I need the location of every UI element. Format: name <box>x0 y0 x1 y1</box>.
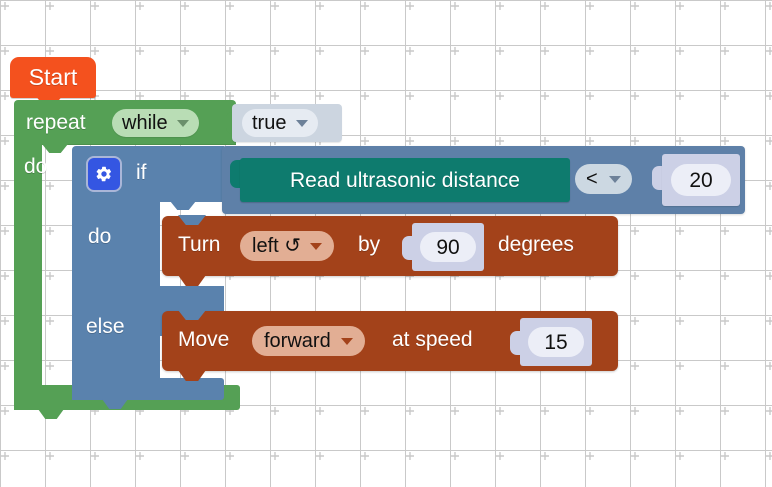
turn-verb-label: Turn <box>178 234 220 255</box>
chevron-down-icon <box>177 120 189 127</box>
blockly-workspace[interactable]: Start repeat while do true <box>0 0 772 487</box>
read-ultrasonic-distance-block[interactable]: Read ultrasonic distance <box>240 158 570 202</box>
if-block-footer <box>72 378 224 400</box>
chevron-down-icon <box>341 338 353 345</box>
comparison-right-number-block[interactable]: 20 <box>662 154 740 206</box>
comparison-right-number-input[interactable]: 20 <box>671 164 731 196</box>
turn-amount-input[interactable]: 90 <box>420 232 476 262</box>
move-amount-number-block[interactable]: 15 <box>520 318 592 366</box>
repeat-block-bottom-notch <box>38 409 64 419</box>
if-block-do-notch <box>170 201 196 210</box>
turn-direction-value: left ↺ <box>252 236 301 256</box>
turn-block[interactable]: Turn left ↺ by 90 degrees <box>162 216 618 276</box>
chevron-down-icon <box>310 243 322 250</box>
gear-icon[interactable] <box>86 156 122 192</box>
start-block-label: Start <box>29 66 78 89</box>
move-block[interactable]: Move forward at speed 15 <box>162 311 618 371</box>
move-amount-value: 15 <box>544 332 567 353</box>
turn-amount-number-block[interactable]: 90 <box>412 223 484 271</box>
comparison-right-number-value: 20 <box>689 170 712 191</box>
repeat-block-inner-notch <box>42 144 68 153</box>
move-direction-dropdown[interactable]: forward <box>252 326 365 356</box>
true-value-dropdown[interactable]: true <box>242 109 318 137</box>
move-block-top-notch <box>178 310 206 320</box>
if-do-label: do <box>88 226 111 247</box>
turn-connector-label: by <box>358 234 380 255</box>
true-boolean-block[interactable]: true <box>232 104 342 142</box>
chevron-down-icon <box>296 120 308 127</box>
if-else-label: else <box>86 316 125 337</box>
move-connector-label: at speed <box>392 329 473 350</box>
turn-unit-label: degrees <box>498 234 574 255</box>
repeat-mode-value: while <box>122 113 168 133</box>
repeat-mode-dropdown[interactable]: while <box>112 109 199 137</box>
turn-block-top-notch <box>178 215 206 225</box>
move-direction-value: forward <box>264 331 331 351</box>
repeat-keyword-label: repeat <box>26 112 86 133</box>
comparison-operator-dropdown[interactable]: < <box>575 164 632 194</box>
if-keyword-label: if <box>136 162 147 183</box>
chevron-down-icon <box>609 176 621 183</box>
move-verb-label: Move <box>178 329 229 350</box>
repeat-do-label: do <box>24 156 47 177</box>
turn-direction-dropdown[interactable]: left ↺ <box>240 231 334 261</box>
read-ultrasonic-distance-label: Read ultrasonic distance <box>290 170 520 191</box>
turn-amount-value: 90 <box>436 237 459 258</box>
true-value-label: true <box>252 113 286 133</box>
comparison-operator-value: < <box>586 169 598 189</box>
repeat-block-left-spine <box>14 144 42 386</box>
move-amount-input[interactable]: 15 <box>528 327 584 357</box>
start-block[interactable]: Start <box>10 57 96 98</box>
